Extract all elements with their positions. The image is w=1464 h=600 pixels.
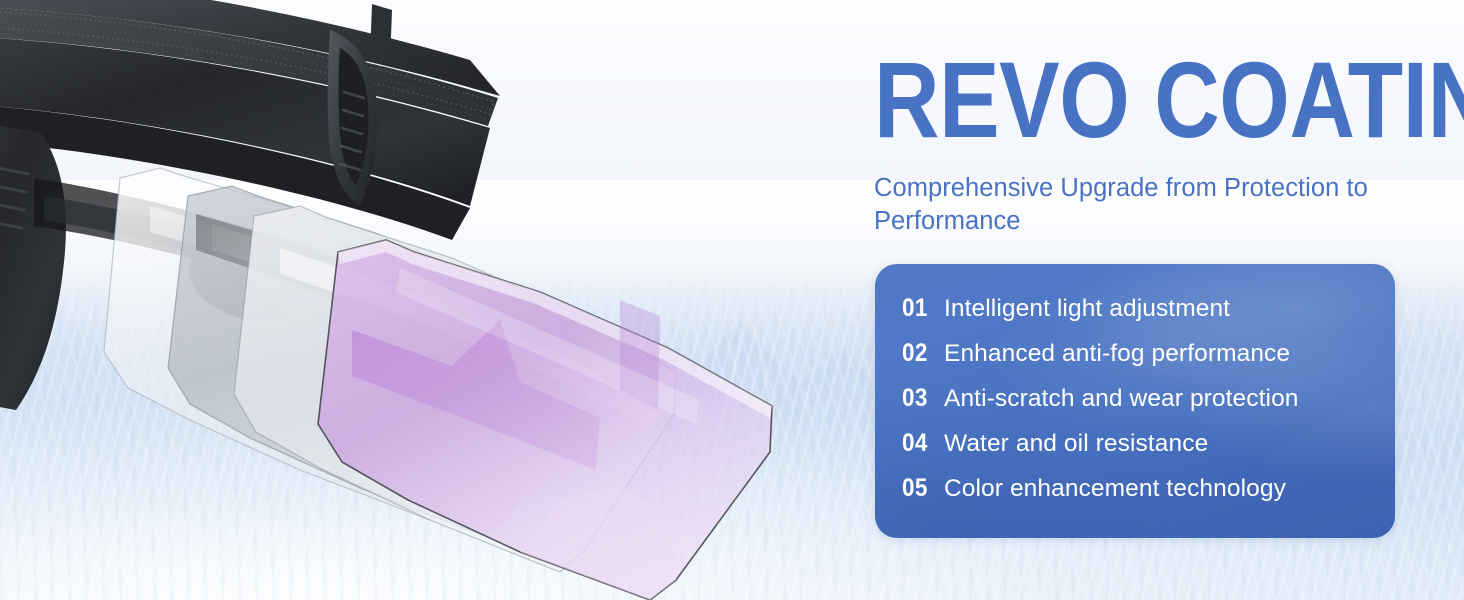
revo-coating-banner: REVO COATING Comprehensive Upgrade from … xyxy=(0,0,1464,600)
feature-label: Intelligent light adjustment xyxy=(944,295,1230,323)
text-content: REVO COATING Comprehensive Upgrade from … xyxy=(874,0,1434,600)
list-item: 01 Intelligent light adjustment xyxy=(902,294,1395,339)
feature-number: 05 xyxy=(902,474,940,503)
feature-number: 02 xyxy=(902,339,940,368)
feature-label: Anti-scratch and wear protection xyxy=(944,385,1299,413)
page-title: REVO COATING xyxy=(874,50,1464,149)
feature-number: 01 xyxy=(902,294,940,323)
list-item: 05 Color enhancement technology xyxy=(902,474,1395,519)
goggle-product-image xyxy=(0,0,820,600)
feature-number: 03 xyxy=(902,384,940,413)
list-item: 03 Anti-scratch and wear protection xyxy=(902,384,1395,429)
feature-label: Enhanced anti-fog performance xyxy=(944,340,1290,368)
feature-label: Color enhancement technology xyxy=(944,475,1286,503)
purple-revo-lens xyxy=(318,240,772,600)
feature-label: Water and oil resistance xyxy=(944,430,1208,458)
page-subtitle: Comprehensive Upgrade from Protection to… xyxy=(874,172,1419,237)
list-item: 02 Enhanced anti-fog performance xyxy=(902,339,1395,384)
feature-list: 01 Intelligent light adjustment 02 Enhan… xyxy=(875,264,1395,538)
feature-number: 04 xyxy=(902,429,940,458)
feature-panel: 01 Intelligent light adjustment 02 Enhan… xyxy=(875,264,1395,538)
list-item: 04 Water and oil resistance xyxy=(902,429,1395,474)
